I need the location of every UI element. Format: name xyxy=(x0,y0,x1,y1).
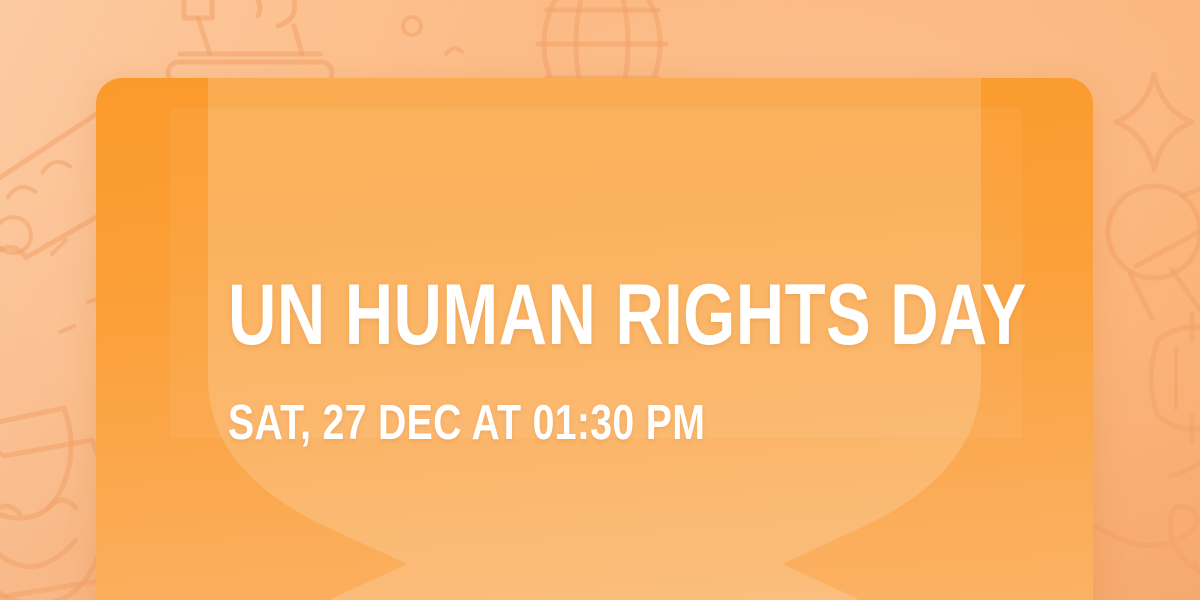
event-text-block: UN HUMAN RIGHTS DAY SAT, 27 DEC AT 01:30… xyxy=(228,274,1048,448)
event-card[interactable]: UN HUMAN RIGHTS DAY SAT, 27 DEC AT 01:30… xyxy=(96,78,1093,600)
event-datetime: SAT, 27 DEC AT 01:30 PM xyxy=(228,357,884,448)
event-title: UN HUMAN RIGHTS DAY xyxy=(228,274,868,357)
event-banner: UN HUMAN RIGHTS DAY SAT, 27 DEC AT 01:30… xyxy=(0,0,1200,600)
